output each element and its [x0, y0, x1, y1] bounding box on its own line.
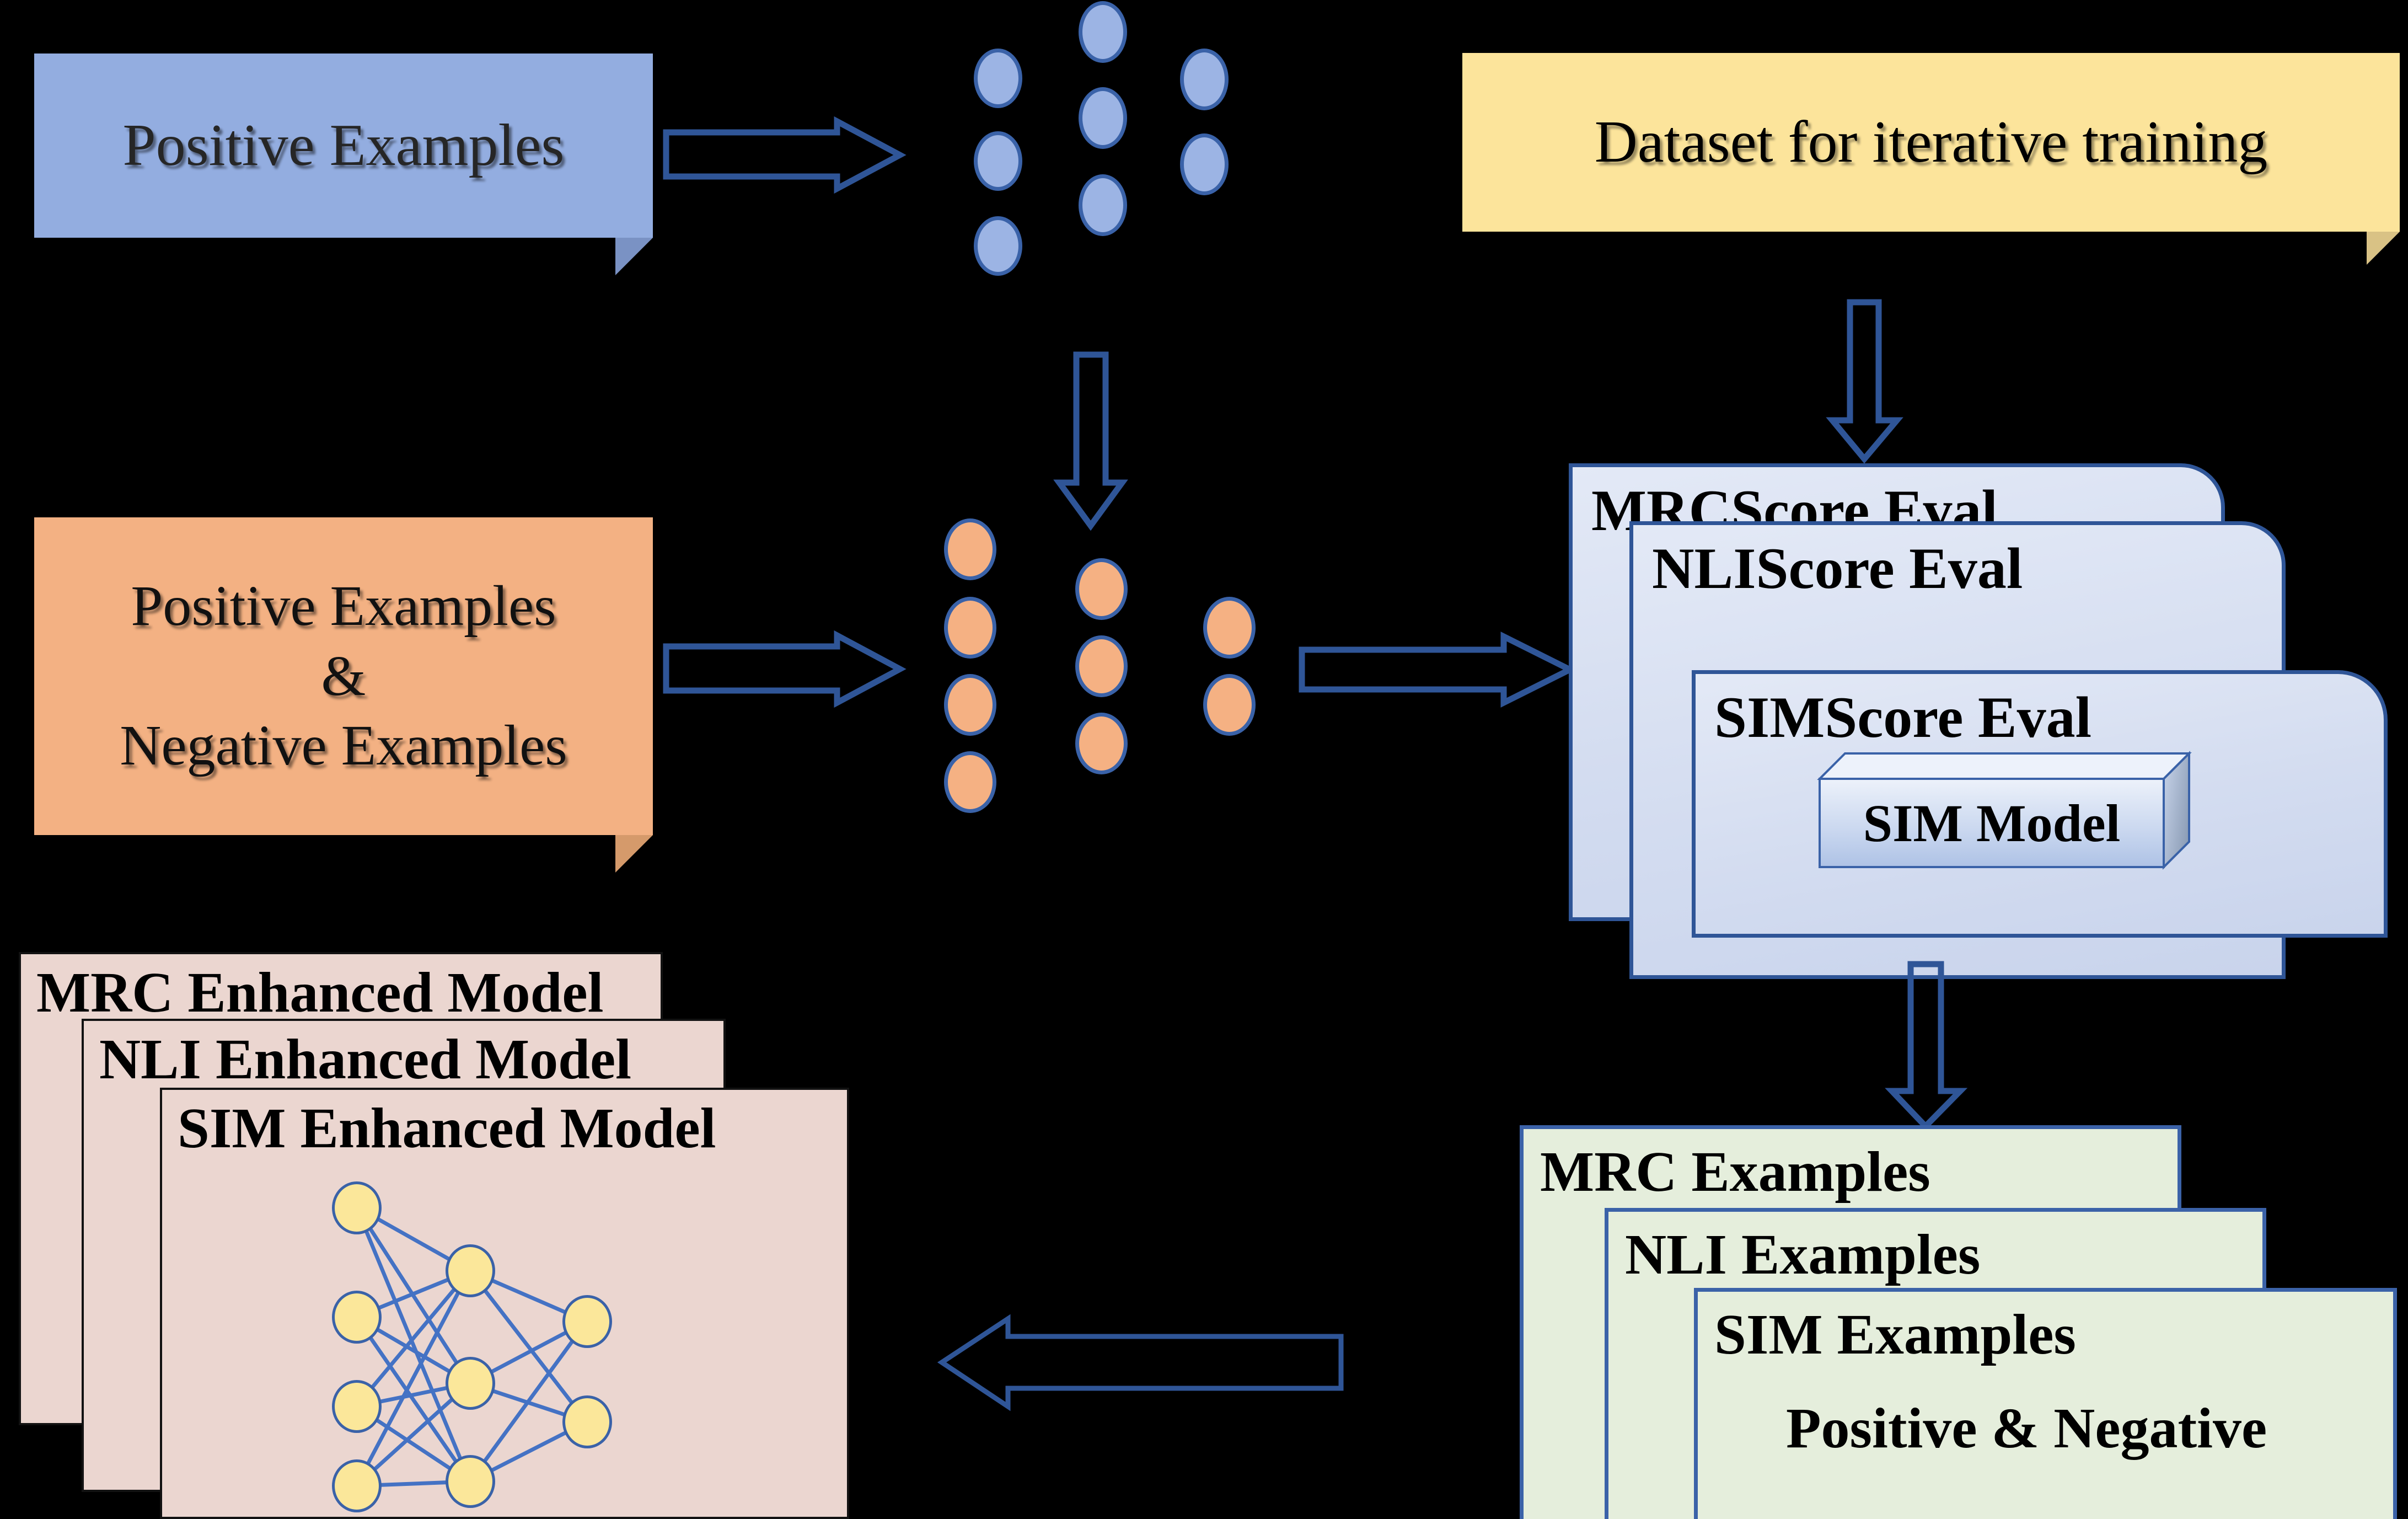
neuron-node [1203, 674, 1256, 736]
model-card-sim-enhanced[interactable]: SIM Enhanced Model [160, 1088, 849, 1519]
positive-examples-note-label: Positive Examples [34, 109, 653, 182]
example-card-sim-sublabel: Positive & Negative [1786, 1395, 2267, 1461]
neuron-node [1180, 133, 1229, 195]
example-card-nli-label: NLI Examples [1625, 1222, 1980, 1287]
neuron-node [562, 1395, 612, 1448]
neuron-node [1203, 597, 1256, 659]
yellow-network-cluster [322, 1173, 675, 1515]
neuron-node [332, 1181, 382, 1234]
neuron-node [446, 1244, 495, 1297]
positive-examples-note[interactable]: Positive Examples [34, 54, 653, 238]
neuron-node [1079, 87, 1127, 149]
model-card-nli-enhanced-label: NLI Enhanced Model [99, 1026, 631, 1092]
neuron-node [562, 1295, 612, 1348]
neuron-node [944, 751, 996, 813]
neuron-node [944, 674, 996, 736]
orange-network-cluster [937, 513, 1312, 838]
positive-and-negative-examples-note[interactable]: Positive Examples & Negative Examples [34, 517, 653, 835]
folded-corner-icon [2367, 232, 2400, 265]
positive-negative-note-label: Positive Examples & Negative Examples [34, 571, 653, 782]
neuron-node [1180, 49, 1229, 110]
sim-model-label: SIM Model [1863, 793, 2121, 854]
arrow-dataset-to-eval-stack [1811, 298, 1922, 463]
neuron-node [1075, 713, 1128, 774]
neuron-node [1079, 1, 1127, 63]
dataset-for-iterative-training-note[interactable]: Dataset for iterative training [1462, 53, 2400, 232]
neuron-node [1079, 174, 1127, 236]
neuron-node [446, 1357, 495, 1410]
sim-model-cube-front-face: SIM Model [1819, 778, 2165, 868]
folded-corner-icon [615, 835, 653, 873]
neuron-node [1075, 558, 1128, 620]
arrow-positive-negative-to-orange-network [662, 634, 904, 706]
example-card-sim-label: SIM Examples [1714, 1302, 2076, 1367]
folded-corner-icon [615, 238, 653, 275]
example-card-mrc-label: MRC Examples [1540, 1139, 1930, 1205]
sim-model-cube[interactable]: SIM Model [1793, 739, 2218, 882]
eval-card-nliscore-label: NLIScore Eval [1652, 535, 2023, 602]
arrow-positive-to-blue-network [662, 120, 904, 192]
arrow-orange-network-to-eval-stack [1299, 634, 1574, 706]
arrow-eval-stack-to-example-stack [1872, 960, 2010, 1131]
neuron-node [332, 1459, 382, 1512]
neuron-node [446, 1455, 495, 1508]
neuron-node [944, 518, 996, 580]
neuron-node [332, 1380, 382, 1433]
neuron-node [974, 49, 1022, 108]
diagram-canvas: Positive Examples Dataset for iterative … [0, 0, 2408, 1519]
dataset-note-label: Dataset for iterative training [1462, 106, 2400, 179]
model-card-sim-enhanced-label: SIM Enhanced Model [178, 1095, 716, 1161]
blue-network-cluster [959, 0, 1312, 287]
neuron-node [1075, 635, 1128, 697]
model-card-mrc-enhanced-label: MRC Enhanced Model [36, 960, 603, 1025]
arrow-example-stack-to-model-stack [937, 1310, 1345, 1415]
example-card-sim[interactable]: SIM Examples Positive & Negative [1694, 1288, 2397, 1519]
neuron-node [944, 597, 996, 659]
neuron-node [974, 131, 1022, 191]
neuron-node [332, 1291, 382, 1344]
neuron-node [974, 216, 1022, 276]
arrow-blue-network-to-orange-network [1045, 350, 1139, 532]
